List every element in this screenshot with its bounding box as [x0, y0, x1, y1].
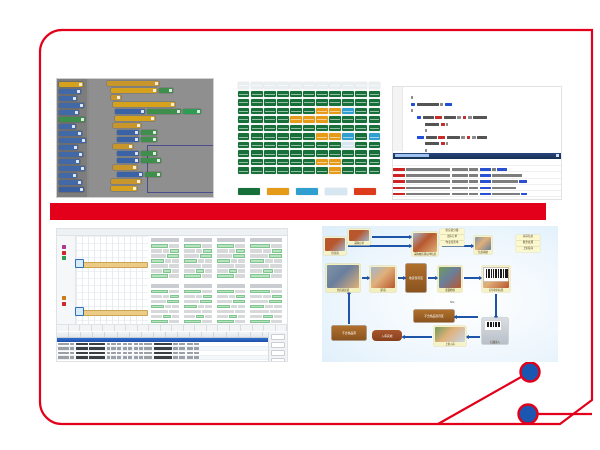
palette-block[interactable]: [59, 124, 76, 129]
status-grid-cell[interactable]: [290, 125, 301, 132]
flow-tag-right[interactable]: 库存信息: [516, 235, 540, 240]
palette-block[interactable]: [59, 152, 83, 157]
status-grid-header-cell[interactable]: [251, 82, 262, 89]
flow-node-supplier[interactable]: 供应商: [324, 237, 346, 255]
scheduler-panel[interactable]: [56, 228, 288, 362]
resource-status-chip[interactable]: [62, 256, 66, 260]
status-grid-cell[interactable]: [277, 150, 288, 157]
status-grid-cell[interactable]: [264, 108, 275, 115]
status-grid-cell[interactable]: [290, 133, 301, 140]
detail-sheet-row[interactable]: [151, 295, 179, 299]
code-block[interactable]: [107, 81, 159, 86]
status-grid-cell[interactable]: [316, 142, 327, 149]
detail-sheet-row[interactable]: [184, 310, 212, 314]
status-grid-cell[interactable]: [290, 150, 301, 157]
flow-node-scan-in[interactable]: 扫描录入: [482, 318, 508, 344]
table-cell: [128, 356, 132, 358]
detail-sheet-row[interactable]: [151, 320, 179, 324]
flow-tag-left[interactable]: 出库订单: [440, 235, 464, 240]
table-column-header[interactable]: [105, 332, 117, 337]
status-grid-cell[interactable]: [316, 125, 327, 132]
status-grid-cell[interactable]: [290, 91, 301, 98]
detail-sheet-row[interactable]: [250, 269, 282, 273]
status-grid-cell[interactable]: [369, 167, 380, 174]
detail-sheet-row[interactable]: [151, 244, 179, 248]
status-grid-header-cell[interactable]: [238, 82, 249, 89]
code-block[interactable]: [111, 179, 141, 184]
table-column-header[interactable]: [166, 332, 178, 337]
status-grid-cell[interactable]: [329, 133, 340, 140]
detail-sheet-row[interactable]: [151, 300, 179, 304]
status-grid-cell[interactable]: [355, 133, 366, 140]
status-grid-cell[interactable]: [303, 167, 314, 174]
detail-sheet-row[interactable]: [217, 295, 245, 299]
status-grid-cell[interactable]: [264, 116, 275, 123]
flow-node-quality-check[interactable]: 质量检验: [438, 266, 462, 292]
detail-sheet-row[interactable]: [151, 264, 179, 268]
detail-sheet-row[interactable]: [217, 320, 245, 324]
detail-sheet-row[interactable]: [184, 249, 212, 253]
detail-sheet-row[interactable]: [250, 305, 282, 309]
detail-sheet-row[interactable]: [151, 305, 179, 309]
status-grid-cell[interactable]: [303, 108, 314, 115]
status-grid-cell[interactable]: [316, 133, 327, 140]
code-block[interactable]: [117, 172, 143, 177]
table-column-header[interactable]: [142, 332, 154, 337]
detail-sheet-row[interactable]: [250, 274, 282, 278]
palette-block[interactable]: [59, 89, 81, 94]
detail-sheet-row[interactable]: [250, 264, 282, 268]
status-grid-cell[interactable]: [303, 150, 314, 157]
code-block[interactable]: [117, 158, 139, 163]
status-grid-cell[interactable]: [316, 108, 327, 115]
palette-block[interactable]: [59, 173, 77, 178]
code-block[interactable]: [111, 186, 137, 191]
detail-sheet-row[interactable]: [217, 315, 245, 319]
code-block[interactable]: [147, 109, 181, 114]
status-grid-cell[interactable]: [238, 142, 249, 149]
status-grid-cell[interactable]: [303, 116, 314, 123]
detail-sheet-row[interactable]: [250, 310, 282, 314]
code-line[interactable]: [403, 129, 559, 134]
status-grid-cell[interactable]: [303, 159, 314, 166]
detail-sheet-row[interactable]: [151, 310, 179, 314]
code-line[interactable]: [403, 122, 559, 127]
status-grid-cell[interactable]: [290, 159, 301, 166]
table-column-header[interactable]: [69, 332, 81, 337]
flow-tag-right[interactable]: 上架指令: [516, 247, 540, 252]
status-grid-cell[interactable]: [329, 159, 340, 166]
status-grid-cell[interactable]: [303, 99, 314, 106]
table-column-header[interactable]: [118, 332, 130, 337]
flow-node-erp-system[interactable]: 信息系统: [474, 236, 492, 254]
status-grid-cell[interactable]: [303, 133, 314, 140]
detail-sheet-row[interactable]: [217, 305, 245, 309]
status-grid-cell[interactable]: [316, 150, 327, 157]
detail-sheet-row[interactable]: [250, 254, 282, 258]
palette-block[interactable]: [59, 145, 78, 150]
status-grid-cell[interactable]: [355, 167, 366, 174]
status-grid-cell[interactable]: [329, 116, 340, 123]
detail-sheet-row[interactable]: [217, 290, 245, 294]
detail-sheet-row[interactable]: [184, 295, 212, 299]
code-editor-panel[interactable]: [392, 86, 562, 200]
scheduler-detail-sheet[interactable]: [149, 236, 287, 331]
table-column-header[interactable]: [214, 332, 226, 337]
gantt-milestone-node[interactable]: [75, 259, 84, 268]
status-grid-cell[interactable]: [251, 125, 262, 132]
code-line[interactable]: [403, 89, 559, 94]
code-block[interactable]: [117, 130, 139, 135]
detail-sheet-row[interactable]: [250, 320, 282, 324]
detail-sheet-row[interactable]: [250, 295, 282, 299]
status-grid-cell[interactable]: [251, 167, 262, 174]
palette-block[interactable]: [59, 117, 85, 122]
flow-node-inbound-done[interactable]: 入库完成: [372, 330, 402, 341]
detail-sheet-row[interactable]: [217, 259, 245, 263]
status-grid-cell[interactable]: [277, 133, 288, 140]
status-grid-header-cell[interactable]: [369, 82, 380, 89]
detail-sheet-column[interactable]: [183, 236, 213, 331]
table-column-header[interactable]: [190, 332, 202, 337]
table-column-header[interactable]: [130, 332, 142, 337]
status-grid-cell[interactable]: [264, 142, 275, 149]
status-grid-cell[interactable]: [355, 99, 366, 106]
scheduler-side-buttons[interactable]: [268, 332, 287, 361]
status-grid-cell[interactable]: [290, 99, 301, 106]
table-column-header[interactable]: [202, 332, 214, 337]
status-grid-cell[interactable]: [316, 116, 327, 123]
detail-sheet-row[interactable]: [217, 249, 245, 253]
detail-sheet-row[interactable]: [250, 259, 282, 263]
detail-sheet-row[interactable]: [151, 254, 179, 258]
code-block[interactable]: [141, 151, 157, 156]
status-grid-cell[interactable]: [238, 91, 249, 98]
blocks-canvas[interactable]: [89, 79, 213, 197]
detail-sheet-row[interactable]: [184, 290, 212, 294]
resource-status-chip[interactable]: [62, 296, 66, 300]
detail-sheet-row[interactable]: [184, 244, 212, 248]
gantt-task-bar[interactable]: [78, 262, 148, 268]
status-grid-cell[interactable]: [342, 125, 353, 132]
code-line[interactable]: [403, 115, 559, 120]
console-log-list[interactable]: [393, 160, 561, 199]
code-block[interactable]: [117, 151, 139, 156]
palette-block[interactable]: [59, 166, 85, 171]
code-block[interactable]: [141, 130, 157, 135]
detail-sheet-column[interactable]: [249, 236, 283, 331]
status-grid-cell[interactable]: [342, 167, 353, 174]
palette-block[interactable]: [59, 110, 79, 115]
status-grid-cell[interactable]: [369, 159, 380, 166]
code-line[interactable]: [403, 102, 559, 107]
status-grid-cell[interactable]: [355, 116, 366, 123]
detail-sheet-row[interactable]: [151, 274, 179, 278]
status-grid-cell[interactable]: [342, 91, 353, 98]
code-block[interactable]: [113, 123, 141, 128]
detail-sheet-row[interactable]: [217, 269, 245, 273]
status-grid-header-cell[interactable]: [355, 82, 366, 89]
status-grid-cell[interactable]: [251, 159, 262, 166]
detail-sheet-row[interactable]: [250, 290, 282, 294]
status-grid-cell[interactable]: [251, 91, 262, 98]
status-grid-cell[interactable]: [264, 167, 275, 174]
status-grid-header-cell[interactable]: [303, 82, 314, 89]
side-button[interactable]: [271, 358, 285, 362]
detail-sheet-row[interactable]: [151, 269, 179, 273]
status-grid-cell[interactable]: [329, 91, 340, 98]
status-grid-header-cell[interactable]: [316, 82, 327, 89]
gantt-task-bar[interactable]: [78, 310, 148, 316]
detail-sheet-row[interactable]: [184, 274, 212, 278]
status-grid-cell[interactable]: [355, 108, 366, 115]
code-block[interactable]: [113, 102, 175, 107]
code-block[interactable]: [141, 158, 161, 163]
code-line[interactable]: [403, 96, 559, 101]
status-grid-cell[interactable]: [251, 116, 262, 123]
status-grid-cell[interactable]: [238, 150, 249, 157]
status-grid-cell[interactable]: [303, 91, 314, 98]
status-grid-cell[interactable]: [251, 142, 262, 149]
status-grid-cell[interactable]: [238, 108, 249, 115]
console-titlebar[interactable]: [393, 153, 561, 159]
code-source-area[interactable]: [403, 89, 559, 151]
table-column-header[interactable]: [154, 332, 166, 337]
detail-sheet-row[interactable]: [217, 274, 245, 278]
table-column-header[interactable]: [178, 332, 190, 337]
code-line[interactable]: [403, 135, 559, 140]
table-column-header[interactable]: [93, 332, 105, 337]
detail-sheet-row[interactable]: [217, 310, 245, 314]
flow-node-reject-area[interactable]: 不合格品暂存区: [414, 310, 454, 322]
table-column-header[interactable]: [239, 332, 251, 337]
status-grid-cell[interactable]: [277, 167, 288, 174]
detail-sheet-row[interactable]: [184, 320, 212, 324]
status-grid-cell[interactable]: [355, 91, 366, 98]
detail-sheet-row[interactable]: [217, 244, 245, 248]
status-grid-cell[interactable]: [329, 150, 340, 157]
flow-node-delivery-truck[interactable]: 供应商送货: [326, 264, 360, 292]
code-block[interactable]: [183, 109, 201, 114]
status-grid-cell[interactable]: [251, 133, 262, 140]
palette-block[interactable]: [59, 103, 84, 108]
detail-sheet-row[interactable]: [250, 249, 282, 253]
status-grid-header-cell[interactable]: [277, 82, 288, 89]
status-grid-cell[interactable]: [238, 133, 249, 140]
status-grid-cell[interactable]: [329, 108, 340, 115]
status-grid-cell[interactable]: [264, 99, 275, 106]
status-grid-header-cell[interactable]: [329, 82, 340, 89]
status-grid-cell[interactable]: [277, 99, 288, 106]
status-grid-cell[interactable]: [238, 99, 249, 106]
code-block[interactable]: [159, 88, 173, 93]
status-grid-cell[interactable]: [369, 142, 380, 149]
detail-sheet-row[interactable]: [151, 249, 179, 253]
detail-sheet-row[interactable]: [217, 264, 245, 268]
flow-node-unloading[interactable]: 卸 货: [370, 266, 396, 292]
status-grid-cell[interactable]: [264, 133, 275, 140]
status-grid-header-cell[interactable]: [290, 82, 301, 89]
palette-block[interactable]: [59, 131, 82, 136]
status-grid-cell[interactable]: [277, 116, 288, 123]
status-grid-cell[interactable]: [342, 159, 353, 166]
status-grid-cell[interactable]: [251, 150, 262, 157]
status-grid-cell[interactable]: [342, 116, 353, 123]
flow-node-reject-warehouse[interactable]: 不合格品库: [332, 326, 366, 340]
table-column-header[interactable]: [81, 332, 93, 337]
status-grid-cell[interactable]: [369, 91, 380, 98]
detail-sheet-row[interactable]: [250, 244, 282, 248]
status-grid-cell[interactable]: [369, 133, 380, 140]
detail-sheet-row[interactable]: [151, 259, 179, 263]
side-button[interactable]: [271, 350, 285, 356]
status-grid-cell[interactable]: [355, 150, 366, 157]
status-grid-cell[interactable]: [369, 99, 380, 106]
status-grid-cell[interactable]: [277, 125, 288, 132]
code-block[interactable]: [113, 165, 137, 170]
flow-node-receiving-desk[interactable]: 采购收货 确认单信息: [412, 232, 438, 256]
status-grid-cell[interactable]: [238, 159, 249, 166]
palette-block[interactable]: [59, 187, 84, 192]
status-grid-cell[interactable]: [342, 142, 353, 149]
status-grid-cell[interactable]: [342, 133, 353, 140]
status-grid-cell[interactable]: [277, 159, 288, 166]
status-grid-cell[interactable]: [369, 116, 380, 123]
status-grid-cell[interactable]: [316, 167, 327, 174]
gantt-chart-area[interactable]: [76, 236, 148, 331]
status-grid-cell[interactable]: [329, 125, 340, 132]
flow-node-purchase-order[interactable]: 采购订单: [348, 229, 370, 245]
detail-sheet-row[interactable]: [184, 305, 212, 309]
detail-sheet-row[interactable]: [184, 259, 212, 263]
detail-sheet-row[interactable]: [217, 300, 245, 304]
status-grid-cell[interactable]: [369, 150, 380, 157]
code-block[interactable]: [115, 116, 155, 121]
status-grid-cell[interactable]: [355, 125, 366, 132]
detail-sheet-row[interactable]: [250, 300, 282, 304]
status-grid-cell[interactable]: [355, 142, 366, 149]
scheduler-toolbar[interactable]: [57, 229, 287, 236]
detail-sheet-column[interactable]: [216, 236, 246, 331]
code-block[interactable]: [141, 137, 157, 142]
status-grid-header-cell[interactable]: [342, 82, 353, 89]
blocks-editor-panel[interactable]: [56, 78, 214, 198]
status-grid-cell[interactable]: [369, 108, 380, 115]
table-row[interactable]: [57, 360, 287, 362]
status-grid-cell[interactable]: [264, 159, 275, 166]
detail-sheet-row[interactable]: [184, 254, 212, 258]
gantt-milestone-node[interactable]: [75, 307, 84, 316]
code-block[interactable]: [145, 172, 161, 177]
resource-status-chip[interactable]: [62, 302, 66, 306]
status-grid-cell[interactable]: [329, 99, 340, 106]
scheduler-data-table[interactable]: [57, 332, 287, 361]
status-grid-cell[interactable]: [369, 125, 380, 132]
resource-status-chip[interactable]: [62, 245, 66, 249]
detail-sheet-row[interactable]: [184, 315, 212, 319]
status-grid-cell[interactable]: [238, 116, 249, 123]
table-column-header[interactable]: [57, 332, 69, 337]
close-icon[interactable]: [556, 154, 559, 157]
blocks-palette[interactable]: [57, 79, 87, 197]
status-grid-cell[interactable]: [355, 159, 366, 166]
status-grid-cell[interactable]: [290, 116, 301, 123]
status-grid-cell[interactable]: [316, 99, 327, 106]
code-block[interactable]: [115, 109, 145, 114]
status-grid-header-cell[interactable]: [264, 82, 275, 89]
side-button[interactable]: [271, 342, 285, 348]
status-grid-cell[interactable]: [303, 142, 314, 149]
resource-status-chip[interactable]: [62, 251, 66, 255]
status-grid-cell[interactable]: [342, 108, 353, 115]
status-grid-cell[interactable]: [251, 108, 262, 115]
detail-sheet-row[interactable]: [184, 264, 212, 268]
code-block[interactable]: [117, 137, 139, 142]
palette-block[interactable]: [59, 159, 80, 164]
code-block[interactable]: [111, 95, 121, 100]
code-line[interactable]: [403, 142, 559, 147]
flow-tag-right[interactable]: 账务处理: [516, 241, 540, 246]
status-grid-cell[interactable]: [264, 150, 275, 157]
status-grid-cell[interactable]: [251, 99, 262, 106]
status-grid-cell[interactable]: [290, 108, 301, 115]
palette-block[interactable]: [59, 180, 82, 185]
detail-sheet-row[interactable]: [217, 254, 245, 258]
detail-sheet-row[interactable]: [184, 300, 212, 304]
palette-block[interactable]: [59, 82, 83, 87]
logistics-flow-panel[interactable]: 采购订单供应商采购收货 确认单信息信息系统供应商送货卸 货收货暂存区质量检验打印…: [322, 226, 558, 362]
status-grid-cell[interactable]: [238, 167, 249, 174]
status-grid[interactable]: [238, 82, 380, 174]
status-grid-cell[interactable]: [277, 91, 288, 98]
code-block[interactable]: [111, 88, 157, 93]
status-grid-cell[interactable]: [264, 125, 275, 132]
table-column-header[interactable]: [251, 332, 263, 337]
status-grid-cell[interactable]: [238, 125, 249, 132]
status-grid-cell[interactable]: [303, 125, 314, 132]
detail-sheet-row[interactable]: [151, 290, 179, 294]
code-block[interactable]: [113, 144, 133, 149]
detail-sheet-row[interactable]: [184, 269, 212, 273]
side-button[interactable]: [271, 334, 285, 340]
status-grid-cell[interactable]: [290, 142, 301, 149]
table-column-header[interactable]: [227, 332, 239, 337]
status-grid-cell[interactable]: [290, 167, 301, 174]
scheduler-resource-column[interactable]: [57, 236, 76, 331]
status-grid-cell[interactable]: [342, 150, 353, 157]
status-grid-panel[interactable]: [236, 80, 382, 198]
code-line[interactable]: [403, 109, 559, 114]
flow-tag-left[interactable]: 作业任务单: [440, 241, 464, 246]
flow-tag-left[interactable]: 供应商分级: [440, 229, 464, 234]
console-log-row[interactable]: [393, 197, 561, 199]
status-grid-cell[interactable]: [329, 142, 340, 149]
status-grid-cell[interactable]: [264, 91, 275, 98]
status-grid-cell[interactable]: [316, 91, 327, 98]
status-grid-cell[interactable]: [329, 167, 340, 174]
status-grid-cell[interactable]: [277, 108, 288, 115]
flow-node-putaway[interactable]: 上架入库: [434, 326, 466, 346]
detail-sheet-row[interactable]: [250, 315, 282, 319]
palette-block[interactable]: [59, 96, 77, 101]
palette-block[interactable]: [59, 138, 86, 143]
detail-sheet-row[interactable]: [151, 315, 179, 319]
status-grid-cell[interactable]: [277, 142, 288, 149]
flow-node-inspection-dock[interactable]: 收货暂存区: [406, 264, 426, 292]
status-grid-cell[interactable]: [342, 99, 353, 106]
detail-sheet-column[interactable]: [150, 236, 180, 331]
status-grid-cell[interactable]: [316, 159, 327, 166]
